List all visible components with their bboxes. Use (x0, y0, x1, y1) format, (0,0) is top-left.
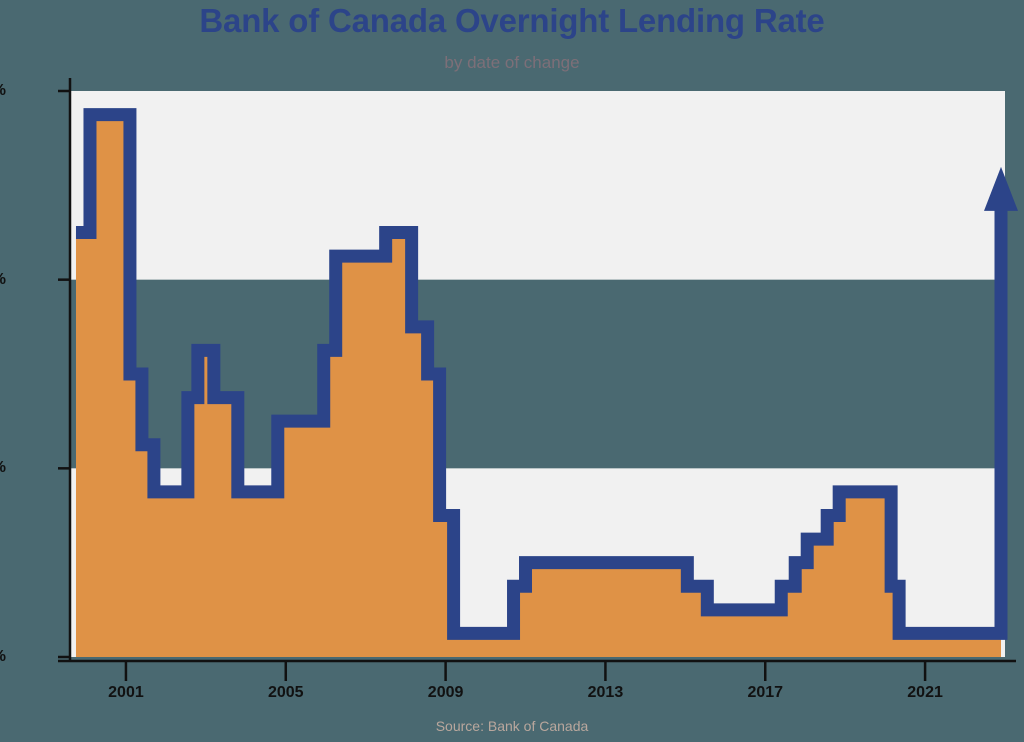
x-axis-tick-label: 2013 (588, 684, 624, 702)
y-axis-tick-label: 2.0% (0, 459, 6, 477)
y-axis-tick-label: 6.0% (0, 82, 6, 100)
chart-figure: Bank of Canada Overnight Lending Rate by… (0, 0, 1024, 742)
x-axis-tick-label: 2005 (268, 684, 304, 702)
y-axis-tick-label: 0.0% (0, 648, 6, 666)
y-axis-tick-label: 4.0% (0, 271, 6, 289)
chart-plot-area (0, 0, 1024, 742)
x-axis-tick-label: 2017 (747, 684, 783, 702)
source-note: Source: Bank of Canada (0, 718, 1024, 734)
x-axis-tick-label: 2021 (907, 684, 943, 702)
x-axis-tick-label: 2001 (108, 684, 144, 702)
x-axis-tick-label: 2009 (428, 684, 464, 702)
